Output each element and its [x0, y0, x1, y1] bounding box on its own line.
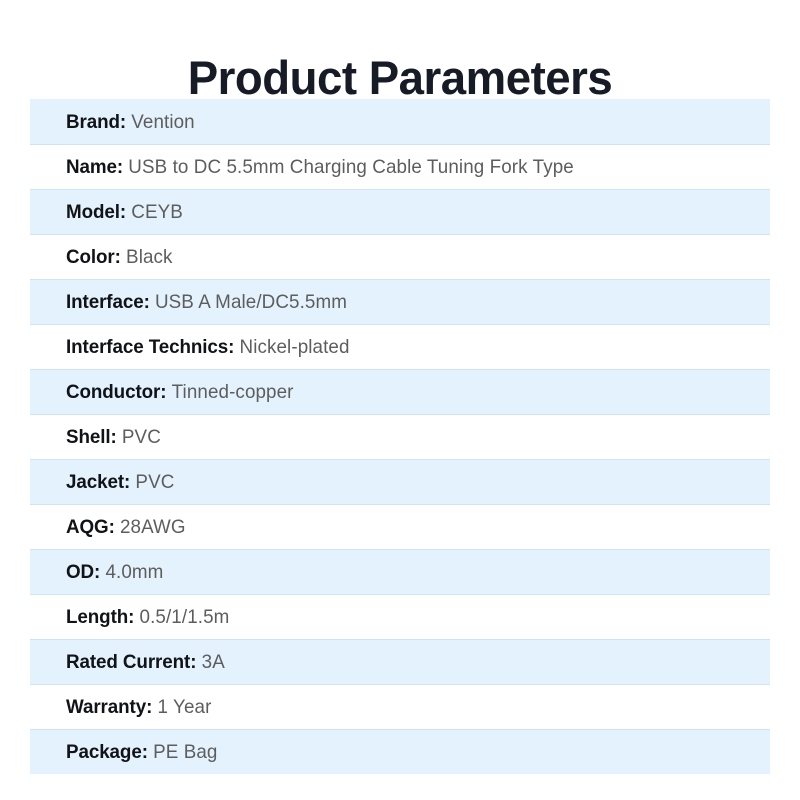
spec-value: USB A Male/DC5.5mm — [155, 291, 347, 313]
spec-value: CEYB — [131, 201, 183, 223]
spec-value: Tinned-copper — [172, 381, 294, 403]
spec-value: PVC — [122, 426, 161, 448]
spec-label: Warranty: — [66, 696, 152, 718]
spec-line: OD: 4.0mm — [66, 560, 163, 584]
spec-label: Conductor: — [66, 381, 166, 403]
spec-value: Nickel-plated — [240, 336, 350, 358]
spec-line: Shell: PVC — [66, 425, 161, 449]
spec-value: 4.0mm — [105, 561, 163, 583]
table-row: Name: USB to DC 5.5mm Charging Cable Tun… — [30, 144, 770, 189]
spec-line: Length: 0.5/1/1.5m — [66, 605, 229, 629]
spec-value: 1 Year — [158, 696, 212, 718]
spec-label: Rated Current: — [66, 651, 196, 673]
spec-line: Package: PE Bag — [66, 740, 218, 764]
spec-line: Rated Current: 3A — [66, 650, 225, 674]
table-row: Brand: Vention — [30, 99, 770, 144]
spec-label: Name: — [66, 156, 123, 178]
spec-line: Interface Technics: Nickel-plated — [66, 335, 350, 359]
table-row: Length: 0.5/1/1.5m — [30, 594, 770, 639]
spec-value: 28AWG — [120, 516, 186, 538]
table-row: Warranty: 1 Year — [30, 684, 770, 729]
spec-value: PE Bag — [153, 741, 217, 763]
spec-value: Vention — [131, 111, 194, 133]
table-row: Color: Black — [30, 234, 770, 279]
table-row: Package: PE Bag — [30, 729, 770, 774]
spec-line: Brand: Vention — [66, 110, 195, 134]
spec-value: 0.5/1/1.5m — [140, 606, 230, 628]
spec-line: AQG: 28AWG — [66, 515, 186, 539]
spec-label: Brand: — [66, 111, 126, 133]
table-row: Shell: PVC — [30, 414, 770, 459]
table-row: Jacket: PVC — [30, 459, 770, 504]
spec-line: Jacket: PVC — [66, 470, 174, 494]
table-row: AQG: 28AWG — [30, 504, 770, 549]
spec-label: Model: — [66, 201, 126, 223]
spec-value: Black — [126, 246, 173, 268]
table-row: Conductor: Tinned-copper — [30, 369, 770, 414]
spec-label: AQG: — [66, 516, 115, 538]
table-row: Interface: USB A Male/DC5.5mm — [30, 279, 770, 324]
spec-line: Model: CEYB — [66, 200, 183, 224]
spec-label: Package: — [66, 741, 148, 763]
spec-label: Shell: — [66, 426, 117, 448]
table-row: Rated Current: 3A — [30, 639, 770, 684]
spec-label: Jacket: — [66, 471, 130, 493]
spec-value: PVC — [135, 471, 174, 493]
table-row: OD: 4.0mm — [30, 549, 770, 594]
spec-line: Warranty: 1 Year — [66, 695, 211, 719]
spec-label: Color: — [66, 246, 121, 268]
spec-line: Interface: USB A Male/DC5.5mm — [66, 290, 347, 314]
spec-label: Interface Technics: — [66, 336, 234, 358]
spec-value: 3A — [202, 651, 225, 673]
spec-table: Brand: Vention Name: USB to DC 5.5mm Cha… — [30, 99, 770, 774]
table-row: Model: CEYB — [30, 189, 770, 234]
spec-value: USB to DC 5.5mm Charging Cable Tuning Fo… — [128, 156, 574, 178]
spec-line: Color: Black — [66, 245, 173, 269]
spec-line: Name: USB to DC 5.5mm Charging Cable Tun… — [66, 155, 574, 179]
spec-label: Interface: — [66, 291, 150, 313]
spec-line: Conductor: Tinned-copper — [66, 380, 294, 404]
spec-label: Length: — [66, 606, 134, 628]
spec-label: OD: — [66, 561, 100, 583]
table-row: Interface Technics: Nickel-plated — [30, 324, 770, 369]
product-parameters-page: Product Parameters Brand: Vention Name: … — [0, 0, 800, 800]
